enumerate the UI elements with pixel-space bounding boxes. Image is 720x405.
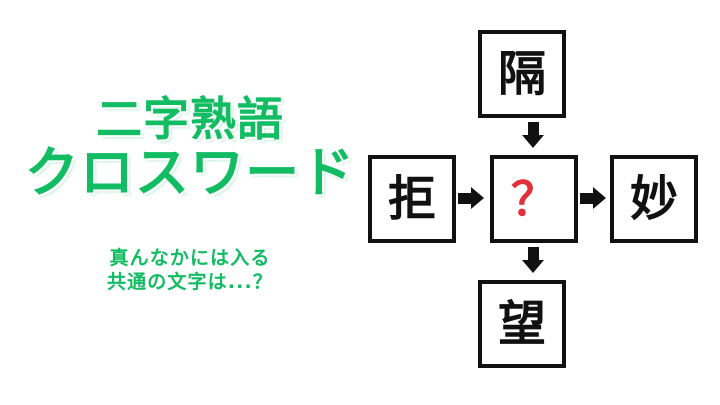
page-title: 二字熟語 クロスワード <box>0 96 380 200</box>
arrow-stem <box>458 193 471 204</box>
arrow-head <box>522 135 544 148</box>
arrow-head <box>522 260 544 273</box>
question-mark-icon: ？ <box>511 176 557 222</box>
title-line-1: 二字熟語 <box>0 96 380 143</box>
title-line-2: クロスワード <box>0 145 380 200</box>
arrow-head <box>593 187 606 209</box>
puzzle-cell-right-character: 妙 <box>630 175 678 223</box>
arrow-stem <box>528 122 539 135</box>
arrow-stem <box>580 193 593 204</box>
puzzle-cell-center[interactable]: ？ <box>490 155 578 243</box>
puzzle-canvas: 二字熟語 クロスワード 真んなかには入る 共通の文字は...？ 隔 拒 ？ 妙 … <box>0 0 720 405</box>
subtitle-line-1: 真んなかには入る <box>0 246 380 270</box>
puzzle-cell-top-character: 隔 <box>498 50 546 98</box>
puzzle-cell-left: 拒 <box>368 155 456 243</box>
puzzle-cell-right: 妙 <box>610 155 698 243</box>
puzzle-cell-bottom: 望 <box>478 280 566 368</box>
puzzle-cell-left-character: 拒 <box>388 175 436 223</box>
puzzle-cell-top: 隔 <box>478 30 566 118</box>
arrow-head <box>471 187 484 209</box>
arrow-stem <box>528 247 539 260</box>
puzzle-cell-bottom-character: 望 <box>498 300 546 348</box>
subtitle-line-2: 共通の文字は...？ <box>0 270 380 294</box>
crossword-diagram: 隔 拒 ？ 妙 望 <box>360 18 712 390</box>
page-subtitle: 真んなかには入る 共通の文字は...？ <box>0 246 380 295</box>
